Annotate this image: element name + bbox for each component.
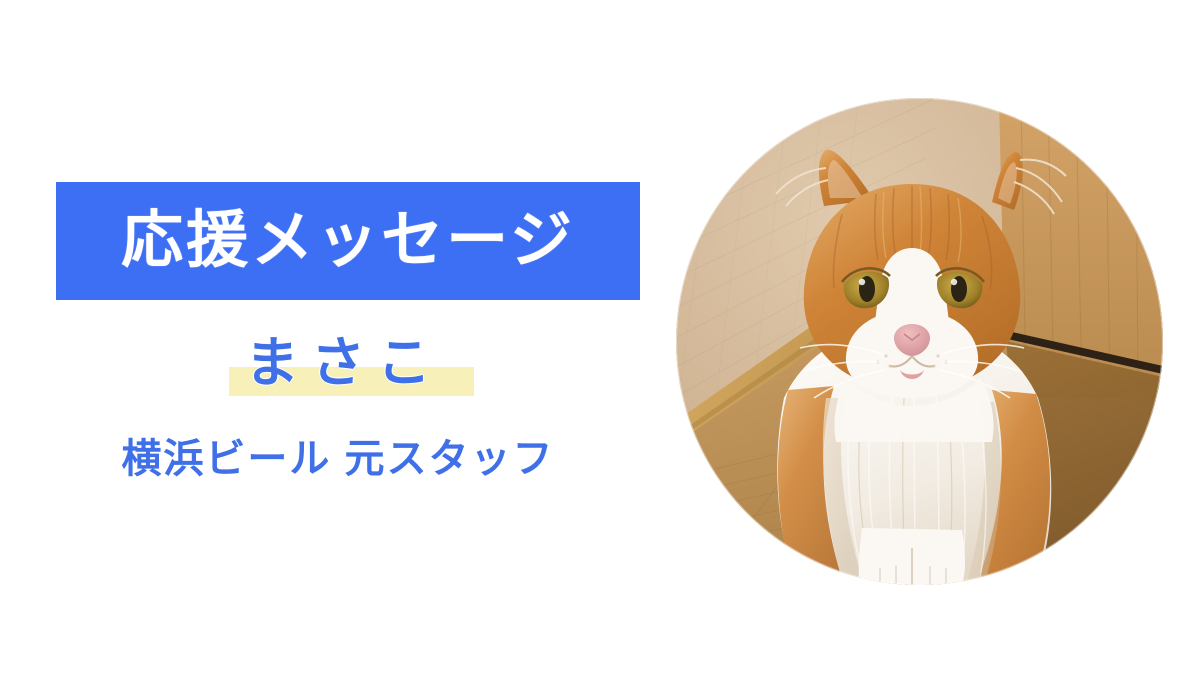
slide-canvas: 応援メッセージ まさこ 横浜ビール 元スタッフ [0, 0, 1200, 675]
page-title: 応援メッセージ [121, 210, 575, 272]
speaker-photo [676, 98, 1163, 585]
text-column: 応援メッセージ まさこ 横浜ビール 元スタッフ [0, 0, 676, 675]
speaker-name: まさこ [0, 330, 676, 396]
speaker-name-block: まさこ [0, 330, 676, 402]
title-banner: 応援メッセージ [56, 182, 640, 300]
speaker-affiliation: 横浜ビール 元スタッフ [0, 432, 676, 486]
